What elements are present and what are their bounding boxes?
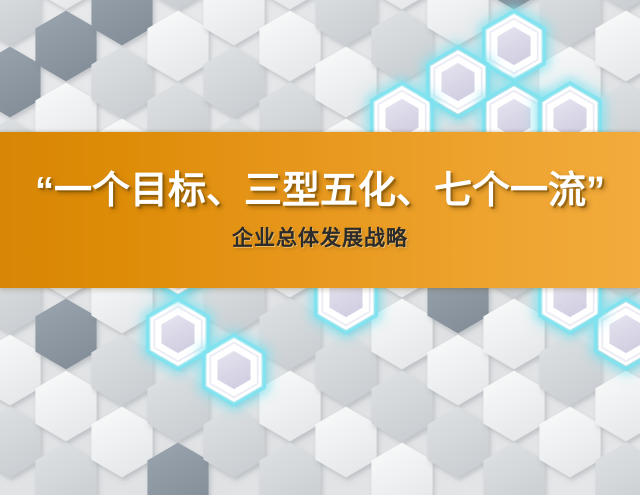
hexagon-tile: [91, 47, 152, 118]
hexagon-tile: [35, 0, 96, 9]
hexagon-tile: [483, 371, 544, 442]
hexagon-tile: [203, 0, 264, 45]
hexagon-tile: [147, 11, 208, 82]
hexagon-tile: [539, 407, 600, 478]
hexagon-tile: [315, 407, 376, 478]
hexagon-tile: [595, 443, 640, 495]
hexagon-tile: [595, 0, 640, 9]
hexagon-tile: [371, 0, 432, 9]
hexagon-tile: [0, 407, 41, 478]
hexagon-tile: [147, 0, 208, 9]
hexagon-tile: [0, 47, 41, 118]
hexagon-tile: [371, 371, 432, 442]
hexagon-tile: [35, 371, 96, 442]
hexagon-tile: [91, 407, 152, 478]
hexagon-tile: [259, 11, 320, 82]
hexagon-tile: [35, 11, 96, 82]
slide-title: “一个目标、三型五化、七个一流”: [35, 172, 605, 210]
hexagon-tile: [203, 47, 264, 118]
hexagon-tile: [35, 443, 96, 495]
hexagon-tile: [371, 443, 432, 495]
glowing-hexagon: [201, 332, 266, 407]
hexagon-tile: [0, 0, 41, 45]
slide-subtitle: 企业总体发展战略: [232, 228, 408, 249]
hexagon-tile: [595, 11, 640, 82]
hexagon-tile: [0, 335, 41, 406]
hexagon-tile: [91, 0, 152, 45]
hexagon-tile: [595, 371, 640, 442]
hexagon-tile: [259, 443, 320, 495]
hexagon-tile: [35, 299, 96, 370]
hexagon-tile: [315, 335, 376, 406]
hexagon-tile: [427, 407, 488, 478]
title-banner: “一个目标、三型五化、七个一流” 企业总体发展战略: [0, 132, 640, 288]
title-slide: “一个目标、三型五化、七个一流” 企业总体发展战略: [0, 0, 640, 495]
hexagon-tile: [315, 0, 376, 45]
hexagon-tile: [259, 0, 320, 9]
hexagon-tile: [427, 335, 488, 406]
hexagon-tile: [483, 443, 544, 495]
hexagon-tile: [147, 443, 208, 495]
hexagon-tile: [203, 407, 264, 478]
